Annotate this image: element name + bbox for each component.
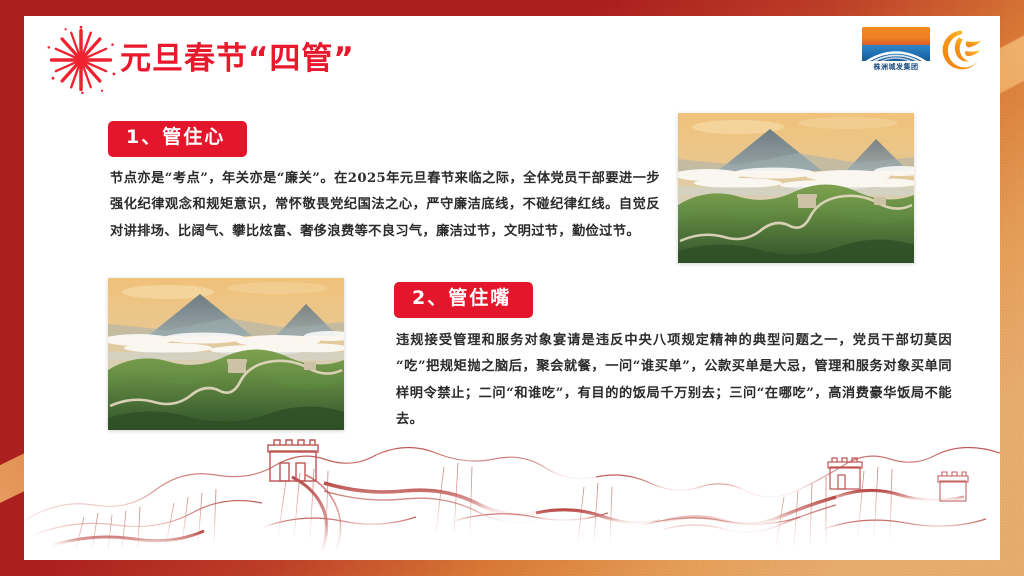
section-heading-guan-zhu-zui: 2、管住嘴 [394,282,533,318]
great-wall-photo-1 [678,113,914,263]
logo-group: 株洲城发集团 [862,27,984,73]
section-body-guan-zhu-xin: 节点亦是“考点”，年关亦是“廉关”。在2025年元旦春节来临之际，全体党员干部要… [110,166,660,245]
section-pill-2: 2、管住嘴 [394,282,533,318]
company-logo-chengfa: 株洲城发集团 [862,27,930,73]
page-canvas: 元旦春节“四管” 株洲城发集团 [24,16,1000,560]
great-wall-line-art [24,425,1000,560]
section-body-guan-zhu-zui: 违规接受管理和服务对象宴请是违反中央八项规定精神的典型问题之一，党员干部切莫因“… [396,328,952,434]
slide-root: 元旦春节“四管” 株洲城发集团 [0,0,1024,576]
section-pill-1: 1、管住心 [108,121,247,157]
firework-burst-icon [46,25,116,95]
great-wall-photo-2 [108,278,344,430]
phoenix-swirl-logo [940,28,984,72]
page-title: 元旦春节“四管” [120,33,355,78]
company-logo-label: 株洲城发集团 [862,61,930,73]
slide-header: 元旦春节“四管” 株洲城发集团 [24,16,1000,94]
section-heading-guan-zhu-xin: 1、管住心 [108,121,247,157]
